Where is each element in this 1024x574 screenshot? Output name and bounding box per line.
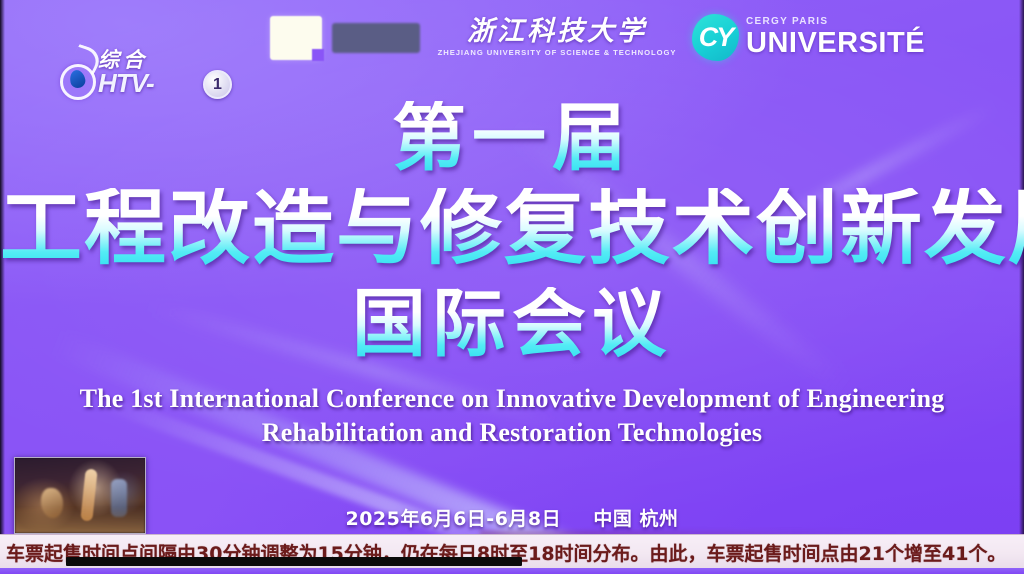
ticker-bottom-band bbox=[0, 568, 1024, 574]
tv-broadcast-frame: 综合 HTV- 1 浙江科技大学 ZHEJIANG UNIVERSITY OF … bbox=[0, 0, 1024, 574]
zust-en-name: ZHEJIANG UNIVERSITY OF SCIENCE & TECHNOL… bbox=[438, 49, 677, 57]
pip-floor-glow bbox=[15, 507, 145, 533]
conference-english-title-line2: Rehabilitation and Restoration Technolog… bbox=[0, 418, 1024, 448]
partner-logo-mark-icon bbox=[270, 16, 322, 60]
conference-english-title-line1: The 1st International Conference on Inno… bbox=[0, 384, 1024, 414]
water-drop-logo-icon bbox=[60, 48, 100, 96]
channel-en-label: HTV- bbox=[98, 68, 154, 99]
zust-zh-name: 浙江科技大学 bbox=[467, 18, 647, 45]
cy-mark-text: CY bbox=[699, 24, 733, 51]
cergy-paris-logo: CY CERGY PARIS UNIVERSITÉ bbox=[692, 14, 925, 61]
conference-location: 中国 杭州 bbox=[593, 508, 678, 530]
conference-main-title: 工程改造与修复技术创新发展 bbox=[0, 188, 1024, 270]
picture-in-picture-preview[interactable] bbox=[14, 457, 146, 534]
conference-date: 2025年6月6日-6月8日 bbox=[345, 508, 561, 530]
zust-logo: 浙江科技大学 ZHEJIANG UNIVERSITY OF SCIENCE & … bbox=[440, 18, 674, 57]
ticker-underline-bar bbox=[66, 557, 522, 566]
cergy-paris-line1: CERGY PARIS bbox=[746, 17, 925, 27]
partner-logo-wordmark-icon bbox=[332, 23, 420, 53]
channel-logo-bug: 综合 HTV- 1 bbox=[54, 44, 204, 102]
conference-edition-title: 第一届 bbox=[0, 101, 1024, 175]
cergy-paris-line2: UNIVERSITÉ bbox=[746, 29, 925, 58]
channel-number-badge: 1 bbox=[203, 70, 232, 99]
sponsor-logo-row: 浙江科技大学 ZHEJIANG UNIVERSITY OF SCIENCE & … bbox=[270, 14, 925, 61]
cy-mark-icon: CY bbox=[692, 14, 739, 61]
conference-subtitle: 国际会议 bbox=[0, 287, 1024, 361]
conference-date-location: 2025年6月6日-6月8日 中国 杭州 bbox=[0, 504, 1024, 531]
